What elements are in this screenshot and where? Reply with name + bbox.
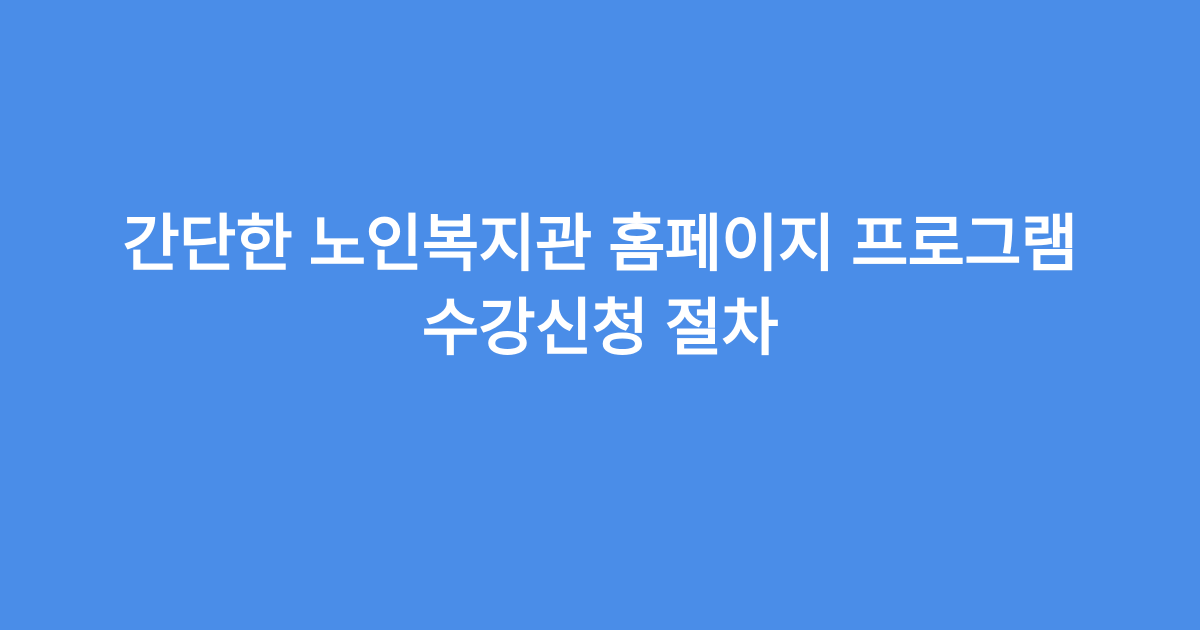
social-share-card: 간단한 노인복지관 홈페이지 프로그램 수강신청 절차 — [0, 0, 1200, 630]
page-title: 간단한 노인복지관 홈페이지 프로그램 수강신청 절차 — [70, 203, 1130, 371]
title-line-1: 간단한 노인복지관 홈페이지 프로그램 — [70, 203, 1130, 287]
title-line-2: 수강신청 절차 — [70, 287, 1130, 371]
